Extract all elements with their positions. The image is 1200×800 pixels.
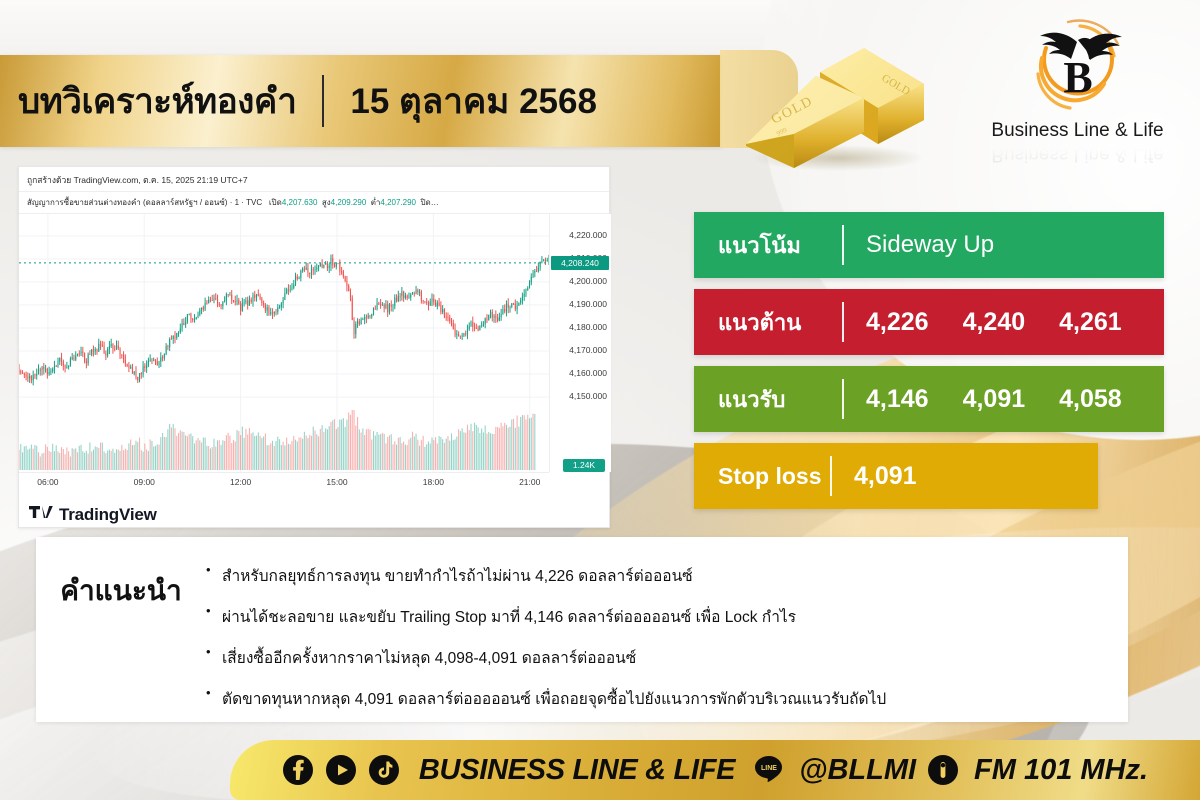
candlestick-svg	[19, 214, 611, 472]
logo-letter: B	[1063, 53, 1092, 102]
ohlc-close-label: ปิด…	[420, 198, 438, 207]
summary-cards: แนวโน้ม Sideway Up แนวต้าน 4,226 4,240 4…	[694, 212, 1164, 520]
svg-text:LINE: LINE	[761, 765, 777, 772]
page-title: บทวิเคราะห์ทองคำ	[18, 74, 296, 129]
list-item: ตัดขาดทุนหากหลุด 4,091 ดอลลาร์ต่อออออนซ์…	[206, 686, 886, 711]
tiktok-icon[interactable]	[368, 754, 400, 786]
card-divider	[842, 302, 844, 342]
card-trend-label: แนวโน้ม	[694, 228, 842, 263]
support-value-1: 4,146	[866, 385, 929, 414]
list-item: เสี่ยงซื้ออีกครั้งหากราคาไม่หลุด 4,098-4…	[206, 645, 886, 670]
price-tick: 4,180.000	[569, 322, 607, 332]
time-tick: 06:00	[37, 477, 58, 487]
price-axis: 4,220.0004,210.0004,200.0004,190.0004,18…	[549, 214, 611, 472]
card-trend-values: Sideway Up	[866, 231, 994, 259]
time-tick: 15:00	[326, 477, 347, 487]
card-resistance-label: แนวต้าน	[694, 305, 842, 340]
support-value-2: 4,091	[963, 385, 1026, 414]
facebook-icon[interactable]	[282, 754, 314, 786]
ohlc-open-value: 4,207.630	[282, 198, 318, 207]
footer-bar: BUSINESS LINE & LIFE LINE @BLLMI FM 101 …	[230, 740, 1200, 800]
footer-line-id: @BLLMI	[799, 754, 916, 787]
time-tick: 21:00	[519, 477, 540, 487]
tradingview-logo-icon	[29, 504, 53, 525]
resistance-value-2: 4,240	[963, 308, 1026, 337]
resistance-value-1: 4,226	[866, 308, 929, 337]
list-item: สำหรับกลยุทธ์การลงทุน ขายทำกำไรถ้าไม่ผ่า…	[206, 563, 886, 588]
card-stoploss-values: 4,091	[854, 462, 917, 491]
ohlc-high-value: 4,209.290	[331, 198, 367, 207]
ohlc-open-label: เปิด	[269, 198, 282, 207]
current-price-badge: 4,208.240	[551, 256, 609, 270]
card-divider	[842, 379, 844, 419]
tradingview-brand: TradingView	[19, 492, 609, 525]
card-support-label: แนวรับ	[694, 382, 842, 417]
recommendation-list: สำหรับกลยุทธ์การลงทุน ขายทำกำไรถ้าไม่ผ่า…	[206, 559, 886, 727]
card-support: แนวรับ 4,146 4,091 4,058	[694, 366, 1164, 432]
stoploss-value: 4,091	[854, 462, 917, 491]
card-support-values: 4,146 4,091 4,058	[866, 385, 1122, 414]
time-tick: 12:00	[230, 477, 251, 487]
chart-plot-area[interactable]: 4,220.0004,210.0004,200.0004,190.0004,18…	[19, 214, 611, 472]
time-tick: 09:00	[134, 477, 155, 487]
card-stoploss: Stop loss 4,091	[694, 443, 1098, 509]
trend-value: Sideway Up	[866, 231, 994, 259]
price-tick: 4,150.000	[569, 391, 607, 401]
card-trend: แนวโน้ม Sideway Up	[694, 212, 1164, 278]
chart-legend-title: สัญญาการซื้อขายส่วนต่างทองคำ (ดอลลาร์สหร…	[27, 198, 262, 207]
eagle-icon: B	[1022, 18, 1134, 118]
header-date: 15 ตุลาคม 2568	[350, 74, 597, 129]
time-tick: 18:00	[423, 477, 444, 487]
gold-bars-icon: GOLD GOLD 999	[718, 36, 948, 176]
brand-logo: B Business Line & Life Business Line & L…	[965, 18, 1190, 158]
time-axis: 06:0009:0012:0015:0018:0021:00	[19, 472, 549, 492]
footer-brand-name: BUSINESS LINE & LIFE	[419, 754, 735, 787]
chart-legend: สัญญาการซื้อขายส่วนต่างทองคำ (ดอลลาร์สหร…	[19, 191, 609, 214]
price-tick: 4,200.000	[569, 276, 607, 286]
footer-fm: FM 101 MHz.	[974, 754, 1148, 787]
chart-credit: ถูกสร้างด้วย TradingView.com, ต.ค. 15, 2…	[19, 167, 609, 191]
card-resistance: แนวต้าน 4,226 4,240 4,261	[694, 289, 1164, 355]
price-tick: 4,170.000	[569, 345, 607, 355]
header-divider	[322, 75, 324, 127]
card-divider	[830, 456, 832, 496]
ohlc-low-value: 4,207.290	[380, 198, 416, 207]
youtube-icon[interactable]	[325, 754, 357, 786]
recommendation-box: คำแนะนำ สำหรับกลยุทธ์การลงทุน ขายทำกำไรถ…	[36, 537, 1128, 722]
radio-icon[interactable]	[927, 754, 959, 786]
line-icon[interactable]: LINE	[752, 753, 786, 787]
price-tick: 4,190.000	[569, 299, 607, 309]
logo-text-reflection: Business Line & Life	[991, 143, 1163, 165]
card-resistance-values: 4,226 4,240 4,261	[866, 308, 1122, 337]
tradingview-chart-panel[interactable]: ถูกสร้างด้วย TradingView.com, ต.ค. 15, 2…	[18, 166, 610, 528]
ohlc-high-label: สูง	[322, 198, 331, 207]
resistance-value-3: 4,261	[1059, 308, 1122, 337]
price-tick: 4,220.000	[569, 230, 607, 240]
card-divider	[842, 225, 844, 265]
list-item: ผ่านได้ชะลอขาย และขยับ Trailing Stop มาท…	[206, 604, 886, 629]
ohlc-low-label: ต่ำ	[371, 198, 381, 207]
card-stoploss-label: Stop loss	[694, 463, 830, 490]
recommendation-label: คำแนะนำ	[36, 559, 206, 613]
tradingview-brand-name: TradingView	[59, 505, 157, 525]
volume-badge: 1.24K	[563, 459, 605, 472]
logo-text: Business Line & Life	[991, 120, 1163, 142]
header-band: บทวิเคราะห์ทองคำ 15 ตุลาคม 2568	[0, 55, 722, 147]
support-value-3: 4,058	[1059, 385, 1122, 414]
price-tick: 4,160.000	[569, 368, 607, 378]
